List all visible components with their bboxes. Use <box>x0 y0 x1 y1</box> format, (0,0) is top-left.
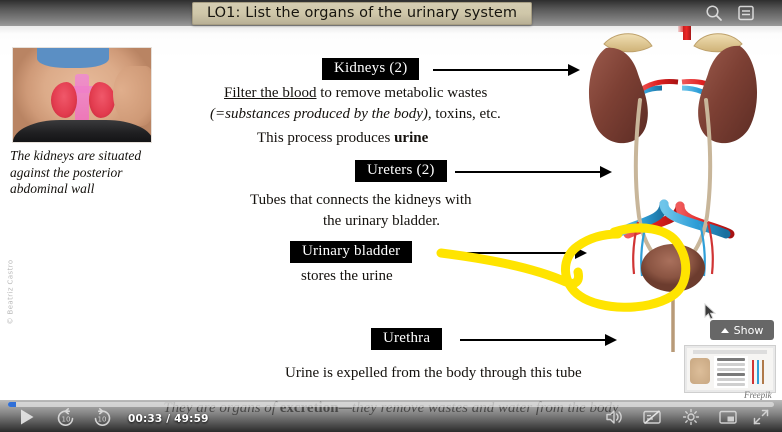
play-button[interactable] <box>18 408 36 426</box>
arrow-to-bladder <box>440 252 585 254</box>
menu-icon[interactable] <box>736 3 756 23</box>
forward-10-button[interactable]: 10 <box>92 408 112 426</box>
kidneys-line1-rest: to remove metabolic wastes <box>317 85 488 101</box>
urine-emphasis: urine <box>394 130 428 146</box>
slide-thumbnail-preview[interactable] <box>684 345 776 393</box>
arrow-to-kidneys <box>433 69 578 71</box>
photo-caption: The kidneys are situated against the pos… <box>10 148 182 198</box>
progress-bar-fill <box>8 402 16 407</box>
video-player-stage: LO1: List the organs of the urinary syst… <box>0 0 782 432</box>
kidneys-description-line2: (=substances produced by the body), toxi… <box>210 104 501 125</box>
kidneys-description-line1: Filter the blood to remove metabolic was… <box>224 83 487 104</box>
copyright-watermark: © Beatriz Castro <box>7 259 15 324</box>
kidneys-description-line3: This process produces urine <box>257 128 428 149</box>
search-icon[interactable] <box>704 3 724 23</box>
arrow-to-urethra <box>460 339 615 341</box>
photo-kidney-left <box>51 82 77 118</box>
label-urethra: Urethra <box>371 328 442 350</box>
picture-in-picture-icon[interactable] <box>718 408 738 426</box>
kidneys-underlined-phrase: Filter the blood <box>224 85 317 101</box>
lesson-objective-title: LO1: List the organs of the urinary syst… <box>192 2 532 25</box>
kidneys-parenthetical: (=substances produced by the body) <box>210 106 428 122</box>
video-player-controls: 10 10 00:33 / 49:59 <box>0 400 782 432</box>
urethra-description-line1: Urine is expelled from the body through … <box>285 363 582 384</box>
bladder-description-line1: stores the urine <box>301 266 393 287</box>
kidneys-line3-pre: This process produces <box>257 130 394 146</box>
label-ureters: Ureters (2) <box>355 160 447 182</box>
ureters-description-line1: Tubes that connects the kidneys with <box>250 190 472 211</box>
closed-captions-off-icon[interactable] <box>642 408 662 426</box>
ureters-description-line2: the urinary bladder. <box>323 211 440 232</box>
arrow-to-ureters <box>455 171 610 173</box>
fullscreen-icon[interactable] <box>752 408 770 426</box>
show-button-label: Show <box>734 324 764 337</box>
volume-icon[interactable] <box>604 408 624 426</box>
progress-bar[interactable] <box>8 402 774 407</box>
gear-icon[interactable] <box>682 408 700 426</box>
svg-text:10: 10 <box>98 416 107 424</box>
chevron-up-icon <box>721 328 729 333</box>
urinary-system-diagram <box>576 22 782 352</box>
timecode-display: 00:33 / 49:59 <box>128 413 209 425</box>
label-urinary-bladder: Urinary bladder <box>290 241 412 263</box>
mouse-cursor <box>704 303 716 321</box>
freepik-watermark: Freepik <box>744 390 772 400</box>
lower-back-photo <box>12 47 152 143</box>
show-panel-button[interactable]: Show <box>710 320 774 340</box>
kidneys-line2-rest: , toxins, etc. <box>428 106 501 122</box>
rewind-10-button[interactable]: 10 <box>56 408 76 426</box>
svg-text:10: 10 <box>62 416 71 424</box>
label-kidneys: Kidneys (2) <box>322 58 419 80</box>
